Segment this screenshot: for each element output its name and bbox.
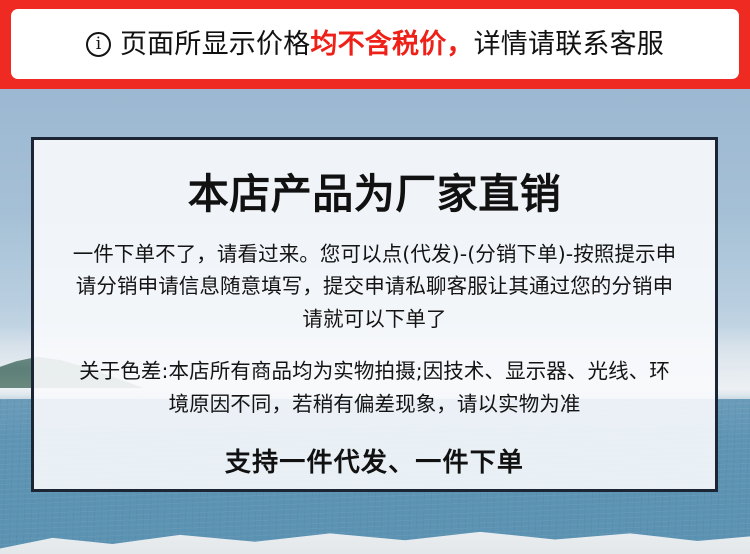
notice-text-highlight: 均不含税价， <box>310 29 473 60</box>
card-title: 本店产品为厂家直销 <box>188 173 562 216</box>
tax-notice-banner: i 页面所显示价格均不含税价，详情请联系客服 <box>0 0 750 89</box>
notice-text-after: 详情请联系客服 <box>474 29 664 60</box>
info-card: 本店产品为厂家直销 一件下单不了，请看过来。您可以点(代发)-(分销下单)-按照… <box>31 137 718 492</box>
info-icon-glyph: i <box>96 36 101 53</box>
tax-notice-inner: i 页面所显示价格均不含税价，详情请联系客服 <box>11 9 739 79</box>
color-difference-paragraph: 关于色差:本店所有商品均为实物拍摄;因技术、显示器、光线、环境原因不同，若稍有偏… <box>73 355 677 420</box>
notice-text-before: 页面所显示价格 <box>120 29 310 60</box>
tax-notice-text: 页面所显示价格均不含税价，详情请联系客服 <box>120 31 664 58</box>
info-circle-icon: i <box>86 32 111 57</box>
dropship-instructions-paragraph: 一件下单不了，请看过来。您可以点(代发)-(分销下单)-按照提示申请分销申请信息… <box>69 238 681 335</box>
card-footer-slogan: 支持一件代发、一件下单 <box>225 442 524 479</box>
page-root: i 页面所显示价格均不含税价，详情请联系客服 本店产品为厂家直销 一件下单不了，… <box>0 0 750 554</box>
